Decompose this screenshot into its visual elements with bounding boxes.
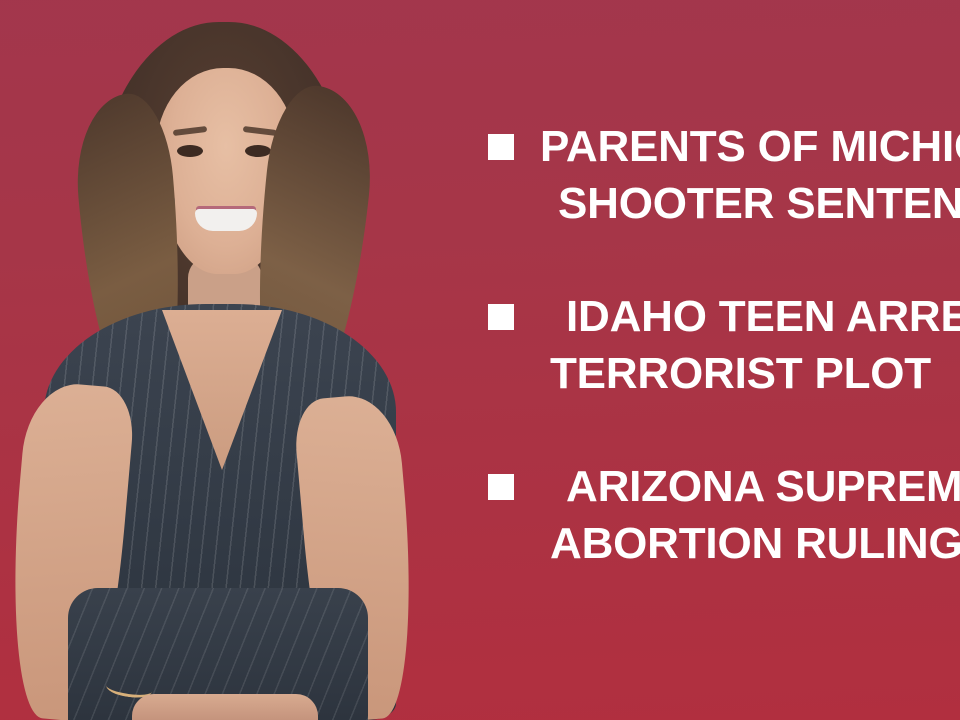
- anchor-figure: [10, 4, 430, 720]
- headline-text: PARENTS OF MICHIGAN SHOOTER SENTENCED: [540, 118, 960, 232]
- news-video-frame: NEWS PARENTS OF MICHIGAN SHOOTER SENTENC…: [0, 0, 960, 720]
- headline-line: SHOOTER SENTENCED: [558, 175, 960, 232]
- headline-line: ABORTION RULING: [550, 515, 960, 572]
- anchor-hands: [132, 694, 318, 720]
- bullet-square-icon: [488, 474, 514, 500]
- headline-line: ARIZONA SUPREME COURT: [566, 458, 960, 515]
- headline-line: PARENTS OF MICHIGAN: [540, 118, 960, 175]
- headline-line: TERRORIST PLOT: [550, 345, 960, 402]
- headline-list: PARENTS OF MICHIGAN SHOOTER SENTENCED ID…: [488, 118, 960, 572]
- headline-text: ARIZONA SUPREME COURT ABORTION RULING: [540, 458, 960, 572]
- headline-item: IDAHO TEEN ARRESTED IN TERRORIST PLOT: [488, 288, 960, 402]
- anchor-eye-left: [177, 145, 203, 157]
- headline-line: IDAHO TEEN ARRESTED IN: [566, 288, 960, 345]
- headline-item: PARENTS OF MICHIGAN SHOOTER SENTENCED: [488, 118, 960, 232]
- anchor-eye-right: [245, 145, 271, 157]
- headline-item: ARIZONA SUPREME COURT ABORTION RULING: [488, 458, 960, 572]
- bullet-square-icon: [488, 304, 514, 330]
- headline-text: IDAHO TEEN ARRESTED IN TERRORIST PLOT: [540, 288, 960, 402]
- anchor-mouth: [195, 209, 257, 231]
- bullet-square-icon: [488, 134, 514, 160]
